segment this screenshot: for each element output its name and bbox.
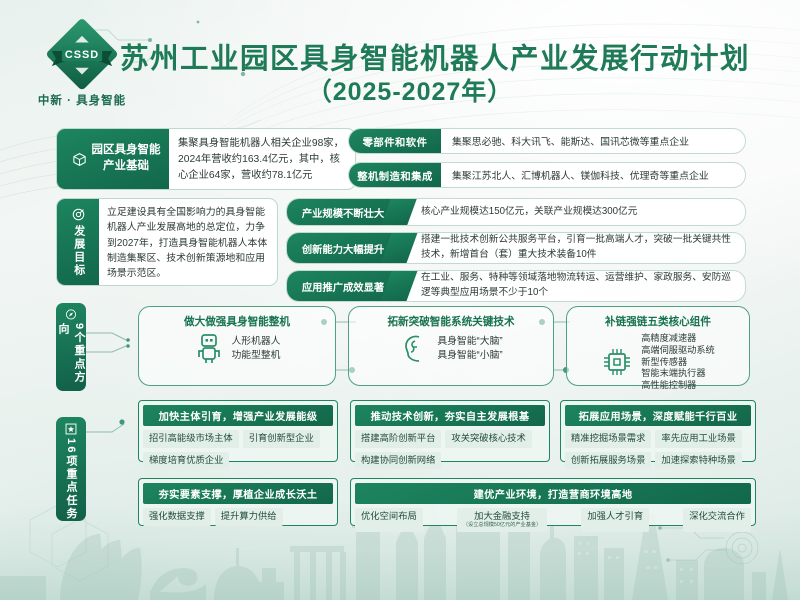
infographic-poster: CSSD 中新 · 具身智能 苏州工业园区具身智能机器人产业发展行动计划 （20… bbox=[0, 0, 800, 600]
goal-item-innovation: 创新能力大幅提升 搭建一批技术创新公共服务平台，引育一批高端人才，突破一批关键共… bbox=[286, 232, 746, 264]
poster-title: 苏州工业园区具身智能机器人产业发展行动计划 （2025-2027年） bbox=[120, 42, 700, 108]
direction-item: 高端伺服驱动系统 bbox=[641, 345, 715, 357]
tasks-label-text: 16项重点任务 bbox=[63, 438, 79, 521]
task-item: 招引高能级市场主体 bbox=[143, 430, 239, 448]
task-item-with-note: 加大金融支持 （设立总规模50亿元的产业基金） bbox=[457, 508, 547, 532]
industry-base-label-line1: 园区具身智能 bbox=[92, 144, 161, 156]
goal-value: 核心产业规模达150亿元，关联产业规模达300亿元 bbox=[399, 199, 745, 225]
industry-base-summary: 集聚具身智能机器人相关企业98家，2024年营收约163.4亿元，其中，核心企业… bbox=[169, 129, 355, 189]
target-icon bbox=[71, 207, 86, 222]
task-item: 搭建高阶创新平台 bbox=[355, 430, 441, 448]
task-item: 优化空间布局 bbox=[355, 508, 423, 532]
task-item: 精准挖掘场景需求 bbox=[565, 430, 651, 448]
svg-text:CSSD: CSSD bbox=[65, 49, 99, 61]
brain-icon bbox=[399, 333, 429, 365]
task-group-title: 拓展应用场景，深度赋能千行百业 bbox=[565, 405, 751, 426]
industry-base-row-components: 零部件和软件 集聚思必驰、科大讯飞、能斯达、国讯芯微等重点企业 bbox=[348, 128, 746, 154]
title-line-1: 苏州工业园区具身智能机器人产业发展行动计划 bbox=[120, 42, 700, 77]
direction-title: 补链强链五类核心组件 bbox=[567, 314, 749, 329]
task-group-title: 夯实要素支撑，厚植企业成长沃土 bbox=[143, 483, 333, 504]
direction-item: 智能末端执行器 bbox=[641, 368, 715, 380]
task-item: 提升算力供给 bbox=[215, 508, 283, 526]
task-item: 加速探索特种场景 bbox=[655, 452, 741, 470]
direction-item: 人形机器人 bbox=[232, 335, 281, 349]
task-item: 梯度培育优质企业 bbox=[143, 452, 229, 470]
goal-item-scale: 产业规模不断壮大 核心产业规模达150亿元，关联产业规模达300亿元 bbox=[286, 198, 746, 226]
direction-title: 做大做强具身智能整机 bbox=[139, 314, 335, 329]
industry-base-label: 园区具身智能 产业基础 bbox=[57, 129, 169, 189]
row-value: 集聚思必驰、科大讯飞、能斯达、国讯芯微等重点企业 bbox=[441, 129, 745, 153]
row-key: 零部件和软件 bbox=[349, 129, 441, 153]
task-group-subject-cultivation: 加快主体引育，增强产业发展能级 招引高能级市场主体 引育创新型企业 梯度培育优质… bbox=[138, 400, 338, 462]
task-group-factor-support: 夯实要素支撑，厚植企业成长沃土 强化数据支撑 提升算力供给 bbox=[138, 478, 338, 526]
title-line-2: （2025-2027年） bbox=[120, 77, 700, 108]
direction-card-key-tech: 拓新突破智能系统关键技术 具身智能“大脑” 具身智能“小脑” bbox=[348, 306, 554, 386]
industry-base-panel: 园区具身智能 产业基础 集聚具身智能机器人相关企业98家，2024年营收约163… bbox=[56, 128, 356, 190]
task-item: 创新拓展服务场景 bbox=[565, 452, 651, 470]
task-item: 引育创新型企业 bbox=[243, 430, 320, 448]
task-item: 率先应用工业场景 bbox=[655, 430, 741, 448]
task-item: 强化数据支撑 bbox=[143, 508, 211, 526]
directions-label-bar: 9个重点方向 bbox=[56, 303, 86, 391]
goal-value: 在工业、服务、特种等领域落地物流转运、运营维护、家政服务、安防巡逻等典型应用场景… bbox=[399, 271, 745, 301]
task-group-title: 加快主体引育，增强产业发展能级 bbox=[143, 405, 333, 426]
row-value: 集聚江苏北人、汇博机器人、镁伽科技、优理奇等重点企业 bbox=[441, 163, 745, 187]
development-goals-label-text: 发展目标 bbox=[72, 225, 84, 277]
goal-key: 产业规模不断壮大 bbox=[287, 199, 399, 225]
direction-title: 拓新突破智能系统关键技术 bbox=[349, 314, 553, 329]
task-item-text: 加大金融支持 bbox=[474, 511, 530, 521]
row-key: 整机制造和集成 bbox=[349, 163, 441, 187]
directions-label-text: 9个重点方向 bbox=[55, 323, 87, 391]
direction-item: 功能型整机 bbox=[232, 349, 281, 363]
goal-value: 搭建一批技术创新公共服务平台，引育一批高端人才，突破一批关键共性技术，新增首台（… bbox=[399, 233, 745, 263]
goal-item-application: 应用推广成效显著 在工业、服务、特种等领域落地物流转运、运营维护、家政服务、安防… bbox=[286, 270, 746, 302]
direction-item: 高性能控制器 bbox=[641, 380, 715, 392]
robot-icon bbox=[194, 333, 224, 365]
task-item: 深化交流合作 bbox=[683, 508, 751, 532]
compass-icon bbox=[64, 308, 78, 321]
task-group-tech-innovation: 推动技术创新，夯实自主发展根基 搭建高阶创新平台 攻关突破核心技术 构建协同创新… bbox=[350, 400, 550, 462]
chip-icon bbox=[601, 345, 633, 379]
task-group-title: 推动技术创新，夯实自主发展根基 bbox=[355, 405, 545, 426]
star-badge-icon bbox=[64, 422, 78, 436]
industry-base-label-line2: 产业基础 bbox=[103, 160, 149, 172]
development-goals-panel: 发展目标 立足建设具有全国影响力的具身智能机器人产业发展高地的总定位，力争到20… bbox=[56, 198, 278, 286]
goal-key: 创新能力大幅提升 bbox=[287, 233, 399, 263]
direction-item: 具身智能“小脑” bbox=[437, 349, 502, 363]
task-item-note: （设立总规模50亿元的产业基金） bbox=[463, 523, 541, 529]
direction-card-core-components: 补链强链五类核心组件 高精度减速器 高端伺服驱动系统 新型传感器 智能末端执行器… bbox=[566, 306, 750, 386]
industry-base-row-integration: 整机制造和集成 集聚江苏北人、汇博机器人、镁伽科技、优理奇等重点企业 bbox=[348, 162, 746, 188]
task-item: 构建协同创新网络 bbox=[355, 452, 441, 470]
tasks-label-bar: 16项重点任务 bbox=[56, 417, 86, 521]
development-goals-label: 发展目标 bbox=[57, 199, 99, 285]
direction-item: 具身智能“大脑” bbox=[437, 335, 502, 349]
task-group-title: 建优产业环境，打造营商环境高地 bbox=[355, 483, 751, 504]
task-item: 攻关突破核心技术 bbox=[445, 430, 531, 448]
cube-icon bbox=[72, 152, 87, 167]
task-item: 加强人才引育 bbox=[581, 508, 649, 532]
task-group-business-environment: 建优产业环境，打造营商环境高地 优化空间布局 加大金融支持 （设立总规模50亿元… bbox=[350, 478, 756, 526]
goal-key: 应用推广成效显著 bbox=[287, 271, 399, 301]
direction-item: 高精度减速器 bbox=[641, 333, 715, 345]
task-group-application-scenarios: 拓展应用场景，深度赋能千行百业 精准挖掘场景需求 率先应用工业场景 创新拓展服务… bbox=[560, 400, 756, 462]
development-goals-summary: 立足建设具有全国影响力的具身智能机器人产业发展高地的总定位，力争到2027年，打… bbox=[99, 199, 277, 285]
direction-item: 新型传感器 bbox=[641, 357, 715, 369]
cssd-diamond-logo-icon: CSSD bbox=[40, 14, 124, 98]
direction-card-whole-machine: 做大做强具身智能整机 人形机器人 功能型整机 bbox=[138, 306, 336, 386]
